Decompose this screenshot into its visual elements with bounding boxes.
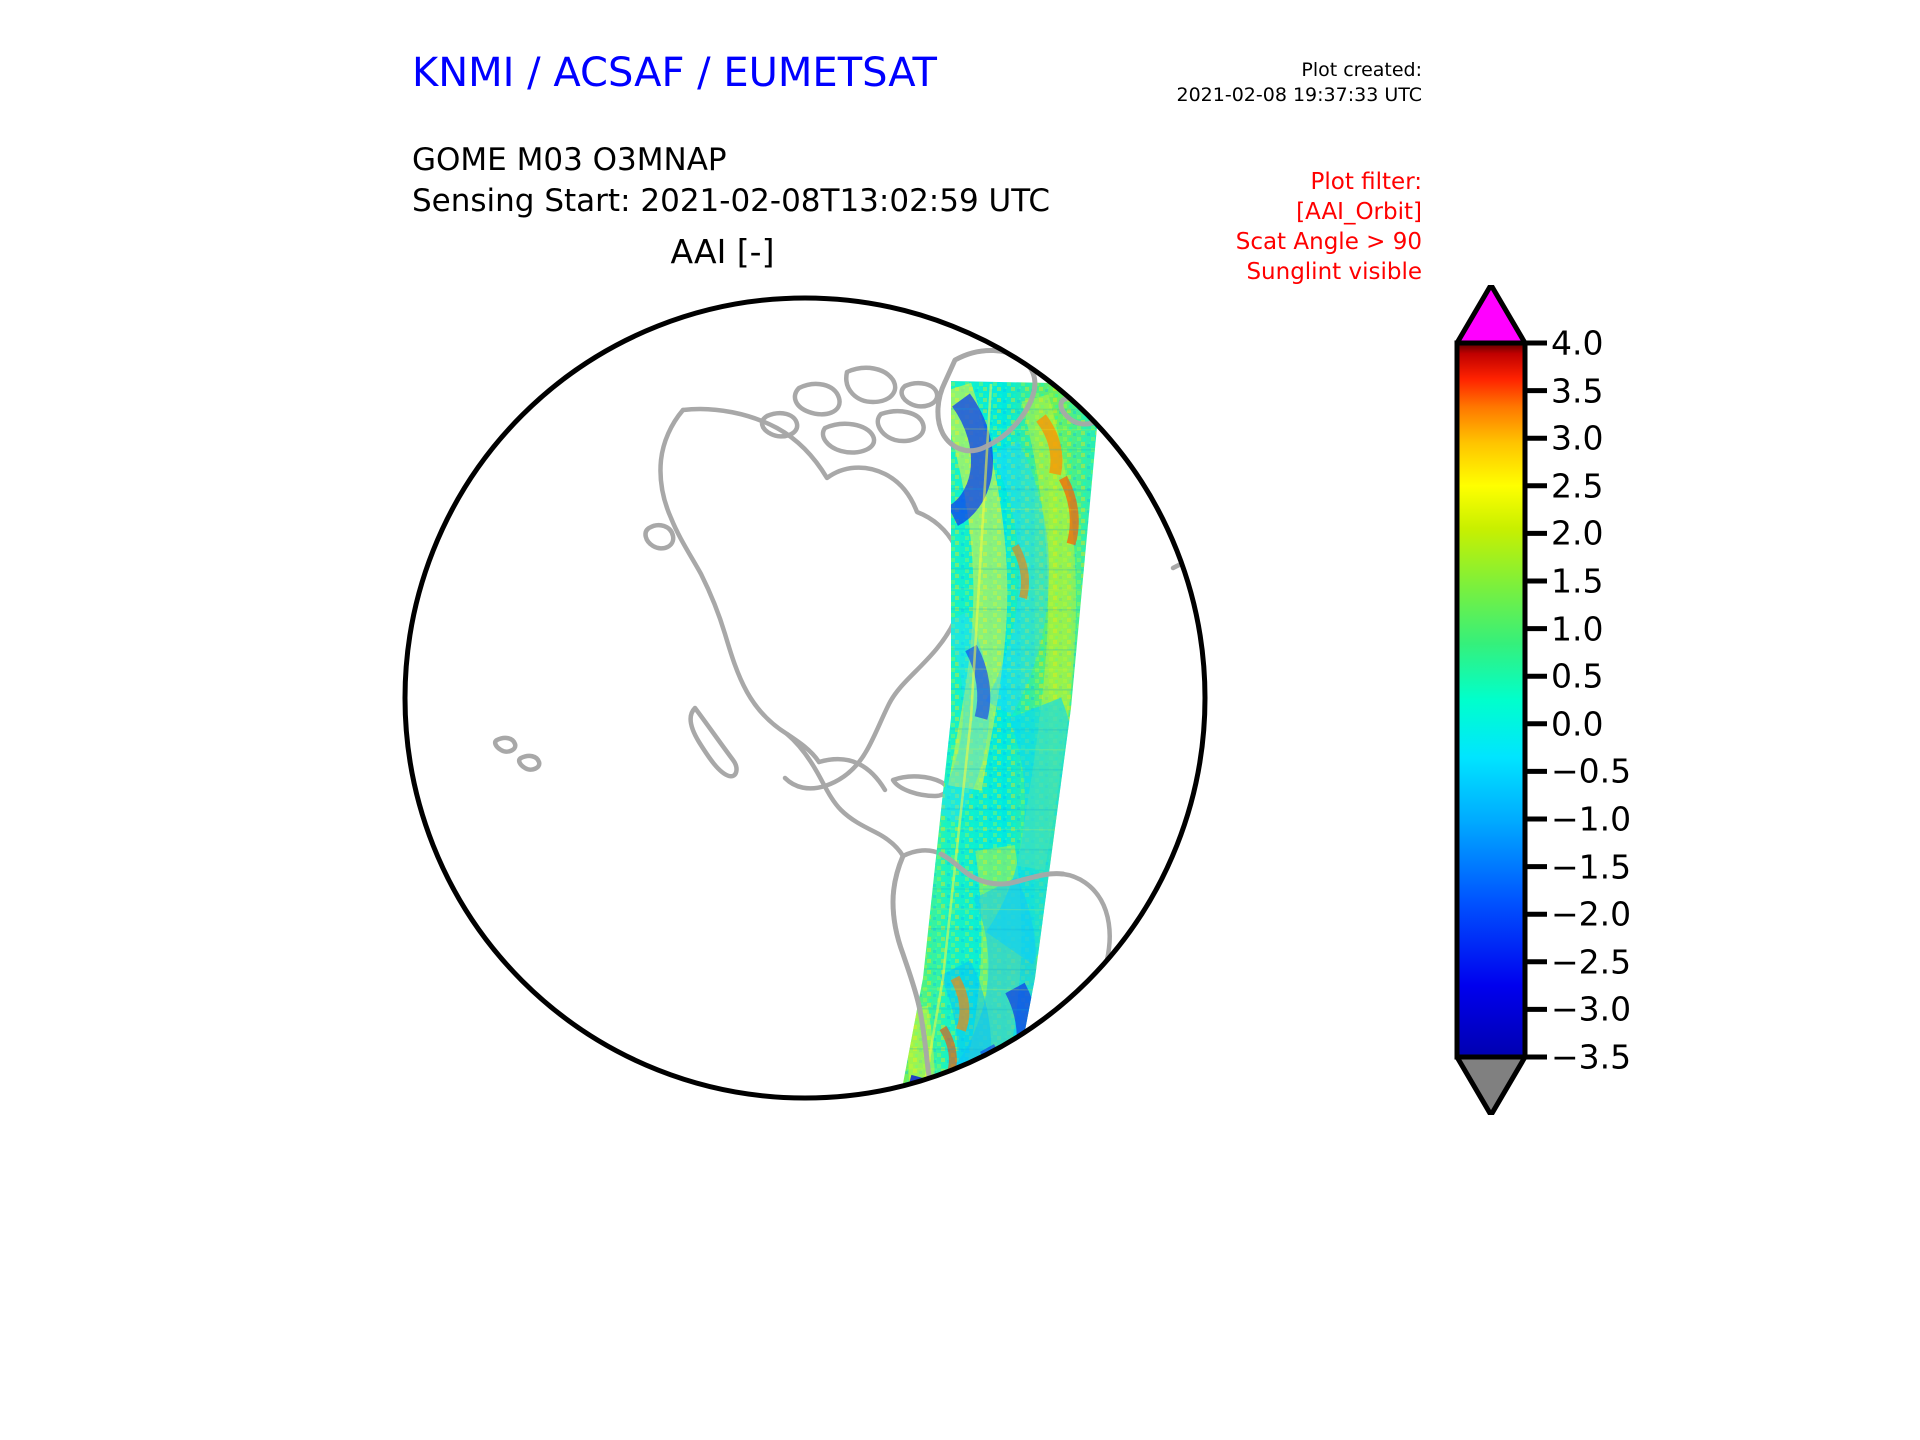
- plot-created-value: 2021-02-08 19:37:33 UTC: [1177, 83, 1423, 108]
- colorbar-tick-label: 1.0: [1551, 609, 1603, 648]
- axes-title: AAI [-]: [0, 232, 1445, 271]
- colorbar-tick-label: −2.0: [1551, 895, 1631, 934]
- colorbar-under-arrow: [1457, 1057, 1525, 1115]
- sensing-start: Sensing Start: 2021-02-08T13:02:59 UTC: [412, 181, 1050, 222]
- orthographic-globe-svg: [395, 288, 1215, 1108]
- colorbar-tick-label: 0.5: [1551, 657, 1603, 696]
- colorbar-tick-label: 3.0: [1551, 419, 1603, 458]
- organisation-title: KNMI / ACSAF / EUMETSAT: [412, 50, 937, 96]
- product-info-block: GOME M03 O3MNAP Sensing Start: 2021-02-0…: [412, 140, 1050, 222]
- colorbar-tick-label: 3.5: [1551, 371, 1603, 410]
- plot-created-label: Plot created:: [1177, 58, 1423, 83]
- colorbar-over-arrow: [1457, 285, 1525, 343]
- colorbar-tick-label: −1.5: [1551, 847, 1631, 886]
- colorbar-tick-label: −2.5: [1551, 942, 1631, 981]
- colorbar-tick-label: 4.0: [1551, 324, 1603, 363]
- globe-map: [395, 288, 1215, 1108]
- colorbar-tick-label: −1.0: [1551, 800, 1631, 839]
- product-name: GOME M03 O3MNAP: [412, 140, 1050, 181]
- plot-created-block: Plot created: 2021-02-08 19:37:33 UTC: [1177, 58, 1423, 108]
- colorbar-tick-label: 2.0: [1551, 514, 1603, 553]
- colorbar-tick-label: 1.5: [1551, 562, 1603, 601]
- colorbar-tick-label: 2.5: [1551, 466, 1603, 505]
- colorbar: 4.0 3.5 3.0 2.5 2.0 1.5 1.0 0.5 0.0 −0.5…: [1443, 285, 1863, 1115]
- colorbar-ticks: [1525, 343, 1547, 1057]
- colorbar-tick-label: −3.5: [1551, 1038, 1631, 1077]
- colorbar-svg: [1443, 285, 1863, 1115]
- plot-canvas: KNMI / ACSAF / EUMETSAT Plot created: 20…: [0, 0, 1920, 1440]
- plot-filter-name: [AAI_Orbit]: [1236, 198, 1422, 228]
- plot-filter-label: Plot filter:: [1236, 168, 1422, 198]
- colorbar-tick-label: −0.5: [1551, 752, 1631, 791]
- colorbar-tick-label: 0.0: [1551, 704, 1603, 743]
- colorbar-tick-label: −3.0: [1551, 990, 1631, 1029]
- colorbar-gradient-bar: [1457, 343, 1525, 1057]
